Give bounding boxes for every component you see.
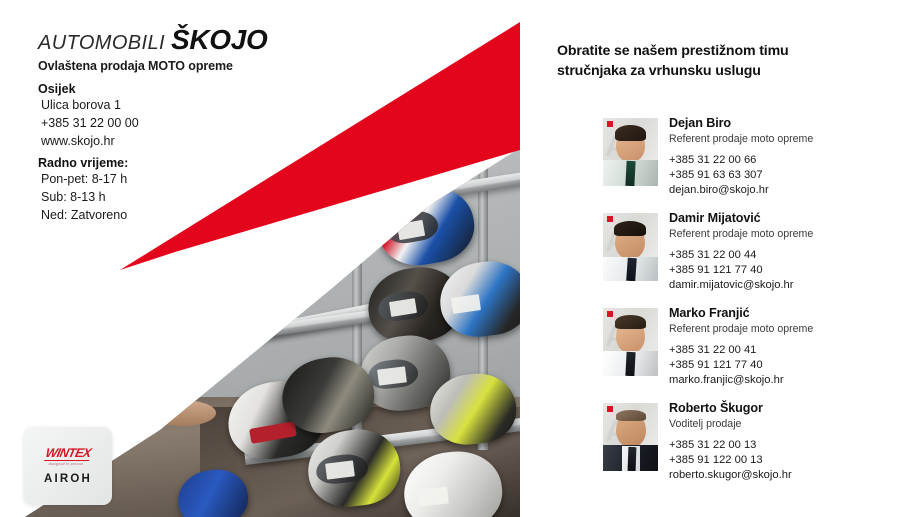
contact-card: A Roberto Škugor Voditelj prodaje +385 3… bbox=[603, 395, 919, 490]
avatar-hair bbox=[614, 221, 646, 236]
contact-name: Damir Mijatović bbox=[669, 211, 813, 227]
price-tag bbox=[377, 366, 407, 385]
contact-email[interactable]: damir.mijatovic@skojo.hr bbox=[669, 278, 813, 293]
company-header: AUTOMOBILIŠKOJO Ovlaštena prodaja MOTO o… bbox=[38, 26, 268, 73]
brand-badge: WINTEX designed to protect AIROH bbox=[24, 427, 112, 505]
contact-phone-2: +385 91 121 77 40 bbox=[669, 358, 813, 373]
opening-hours-heading: Radno vrijeme: bbox=[38, 156, 128, 170]
contact-methods: +385 31 22 00 41 +385 91 121 77 40 marko… bbox=[669, 343, 813, 388]
contact-name: Roberto Škugor bbox=[669, 401, 792, 417]
contact-phone-1: +385 31 22 00 44 bbox=[669, 248, 813, 263]
avatar-tie bbox=[626, 258, 637, 281]
contact-email[interactable]: marko.franjic@skojo.hr bbox=[669, 373, 813, 388]
right-headline: Obratite se našem prestižnom timu stručn… bbox=[557, 42, 857, 81]
wintex-logo-tagline: designed to protect bbox=[49, 462, 84, 466]
contact-card: A Marko Franjić Referent prodaje moto op… bbox=[603, 300, 919, 395]
product-box-band bbox=[130, 330, 180, 343]
spray-can-cap bbox=[107, 302, 120, 318]
avatar: A bbox=[603, 403, 658, 471]
company-title: AUTOMOBILIŠKOJO bbox=[38, 26, 268, 54]
avatar-hair bbox=[615, 125, 646, 141]
contact-email[interactable]: roberto.skugor@skojo.hr bbox=[669, 468, 792, 483]
contact-email[interactable]: dejan.biro@skojo.hr bbox=[669, 183, 813, 198]
spray-can bbox=[106, 300, 121, 376]
contact-details: Marko Franjić Referent prodaje moto opre… bbox=[669, 306, 813, 388]
product-box-art bbox=[133, 349, 177, 379]
avatar-red-marker bbox=[607, 406, 613, 412]
opening-hours-sunday: Ned: Zatvoreno bbox=[38, 207, 128, 225]
left-panel: WINTEX designed to protect AIROH AUTOMOB… bbox=[0, 0, 545, 517]
contact-card-list: A Dejan Biro Referent prodaje moto oprem… bbox=[603, 110, 919, 490]
stool bbox=[148, 400, 216, 426]
address-phone: +385 31 22 00 00 bbox=[38, 115, 139, 133]
contact-phone-2: +385 91 121 77 40 bbox=[669, 263, 813, 278]
airoh-logo-text: AIROH bbox=[44, 473, 92, 485]
address-block: Osijek Ulica borova 1 +385 31 22 00 00 w… bbox=[38, 82, 139, 150]
avatar-hair bbox=[616, 410, 646, 421]
spray-can bbox=[66, 332, 82, 386]
contact-methods: +385 31 22 00 66 +385 91 63 63 307 dejan… bbox=[669, 153, 813, 198]
avatar-hair bbox=[615, 315, 646, 329]
contact-methods: +385 31 22 00 44 +385 91 121 77 40 damir… bbox=[669, 248, 813, 293]
avatar-red-marker bbox=[607, 216, 613, 222]
right-panel: Obratite se našem prestižnom timu stručn… bbox=[545, 0, 919, 517]
company-title-skojo: ŠKOJO bbox=[171, 24, 268, 55]
contact-details: Roberto Škugor Voditelj prodaje +385 31 … bbox=[669, 401, 792, 483]
opening-hours-block: Radno vrijeme: Pon-pet: 8-17 h Sub: 8-13… bbox=[38, 156, 128, 224]
opening-hours-weekdays: Pon-pet: 8-17 h bbox=[38, 171, 128, 189]
opening-hours-saturday: Sub: 8-13 h bbox=[38, 189, 128, 207]
contact-role: Referent prodaje moto opreme bbox=[669, 227, 813, 241]
company-title-automobili: AUTOMOBILI bbox=[38, 32, 165, 54]
price-tag bbox=[325, 460, 355, 479]
wintex-logo-text: WINTEX bbox=[45, 447, 93, 461]
contact-card: A Damir Mijatović Referent prodaje moto … bbox=[603, 205, 919, 300]
contact-phone-1: +385 31 22 00 41 bbox=[669, 343, 813, 358]
contact-phone-1: +385 31 22 00 66 bbox=[669, 153, 813, 168]
address-street: Ulica borova 1 bbox=[38, 97, 139, 115]
contact-name: Dejan Biro bbox=[669, 116, 813, 132]
shelf-post bbox=[8, 260, 17, 440]
avatar: A bbox=[603, 308, 658, 376]
address-city: Osijek bbox=[38, 82, 139, 96]
contact-name: Marko Franjić bbox=[669, 306, 813, 322]
avatar: A bbox=[603, 213, 658, 281]
contact-role: Referent prodaje moto opreme bbox=[669, 322, 813, 336]
avatar: A bbox=[603, 118, 658, 186]
avatar-tie bbox=[625, 352, 635, 376]
contact-role: Referent prodaje moto opreme bbox=[669, 132, 813, 146]
contact-details: Dejan Biro Referent prodaje moto opreme … bbox=[669, 116, 813, 198]
price-tag bbox=[417, 486, 449, 506]
price-tag bbox=[307, 213, 336, 234]
contact-details: Damir Mijatović Referent prodaje moto op… bbox=[669, 211, 813, 293]
contact-role: Voditelj prodaje bbox=[669, 417, 792, 431]
contact-methods: +385 31 22 00 13 +385 91 122 00 13 rober… bbox=[669, 438, 792, 483]
avatar-red-marker bbox=[607, 311, 613, 317]
contact-card: A Dejan Biro Referent prodaje moto oprem… bbox=[603, 110, 919, 205]
address-website[interactable]: www.skojo.hr bbox=[38, 133, 139, 151]
contact-phone-2: +385 91 63 63 307 bbox=[669, 168, 813, 183]
avatar-tie bbox=[628, 447, 637, 471]
avatar-red-marker bbox=[607, 121, 613, 127]
contact-phone-1: +385 31 22 00 13 bbox=[669, 438, 792, 453]
product-box bbox=[128, 290, 182, 382]
wintex-logo: WINTEX designed to protect bbox=[43, 447, 92, 466]
contact-phone-2: +385 91 122 00 13 bbox=[669, 453, 792, 468]
company-subtitle: Ovlaštena prodaja MOTO opreme bbox=[38, 59, 268, 73]
avatar-tie bbox=[625, 161, 635, 186]
product-box-band bbox=[130, 292, 180, 309]
